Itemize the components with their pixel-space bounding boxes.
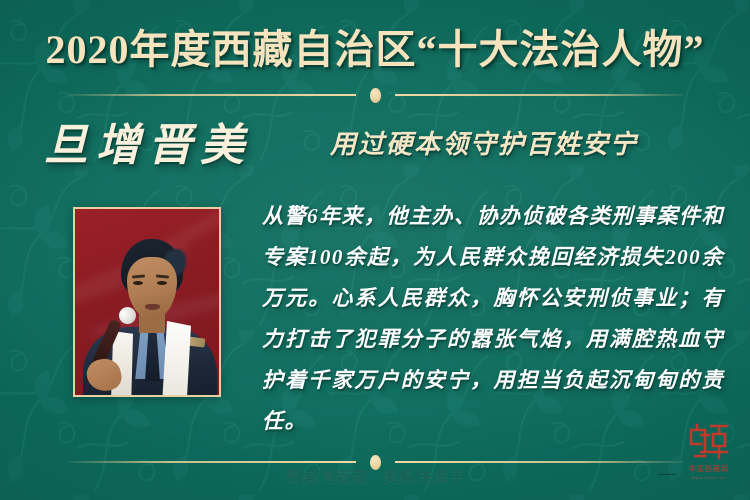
- poster-header: 2020年度西藏自治区“十大法治人物”: [0, 30, 750, 70]
- poster-root: 2020年度西藏自治区“十大法治人物” 旦增晋美 用过硬本领守护百姓安宁: [0, 0, 750, 500]
- divider-bar-left: [68, 461, 356, 463]
- divider-top: [0, 88, 750, 102]
- china-tibet-net-seal-icon: [687, 422, 731, 462]
- divider-bar-right: [395, 94, 683, 96]
- person-name: 旦增晋美: [44, 118, 252, 173]
- person-motto: 用过硬本领守护百姓安宁: [330, 128, 638, 162]
- biography-text-block: 从警6年来，他主办、协办侦破各类刑事案件和专案100余起，为人民群众挽回经济损失…: [262, 196, 724, 442]
- name-row: 旦增晋美 用过硬本领守护百姓安宁: [0, 118, 750, 180]
- portrait-photo: [75, 209, 219, 395]
- biography-paragraph: 从警6年来，他主办、协办侦破各类刑事案件和专案100余起，为人民群众挽回经济损失…: [262, 196, 724, 442]
- divider-bar-left: [68, 94, 356, 96]
- page-title: 2020年度西藏自治区“十大法治人物”: [0, 30, 750, 70]
- site-logo-url: www.tibet.cn: [692, 475, 726, 480]
- divider-dot: [370, 88, 381, 103]
- footer-credit: 责编/常薇薇 美编/朱翠平: [0, 466, 750, 487]
- eye-right: [157, 281, 167, 285]
- divider-bar-right: [395, 461, 683, 463]
- eye-left: [133, 281, 143, 285]
- site-logo-name: 中国西藏网: [689, 464, 729, 474]
- site-logo[interactable]: 中国西藏网 www.tibet.cn: [676, 422, 742, 488]
- mouth: [145, 304, 160, 310]
- logo-tick-mark: [658, 474, 676, 475]
- portrait-frame: [73, 207, 221, 397]
